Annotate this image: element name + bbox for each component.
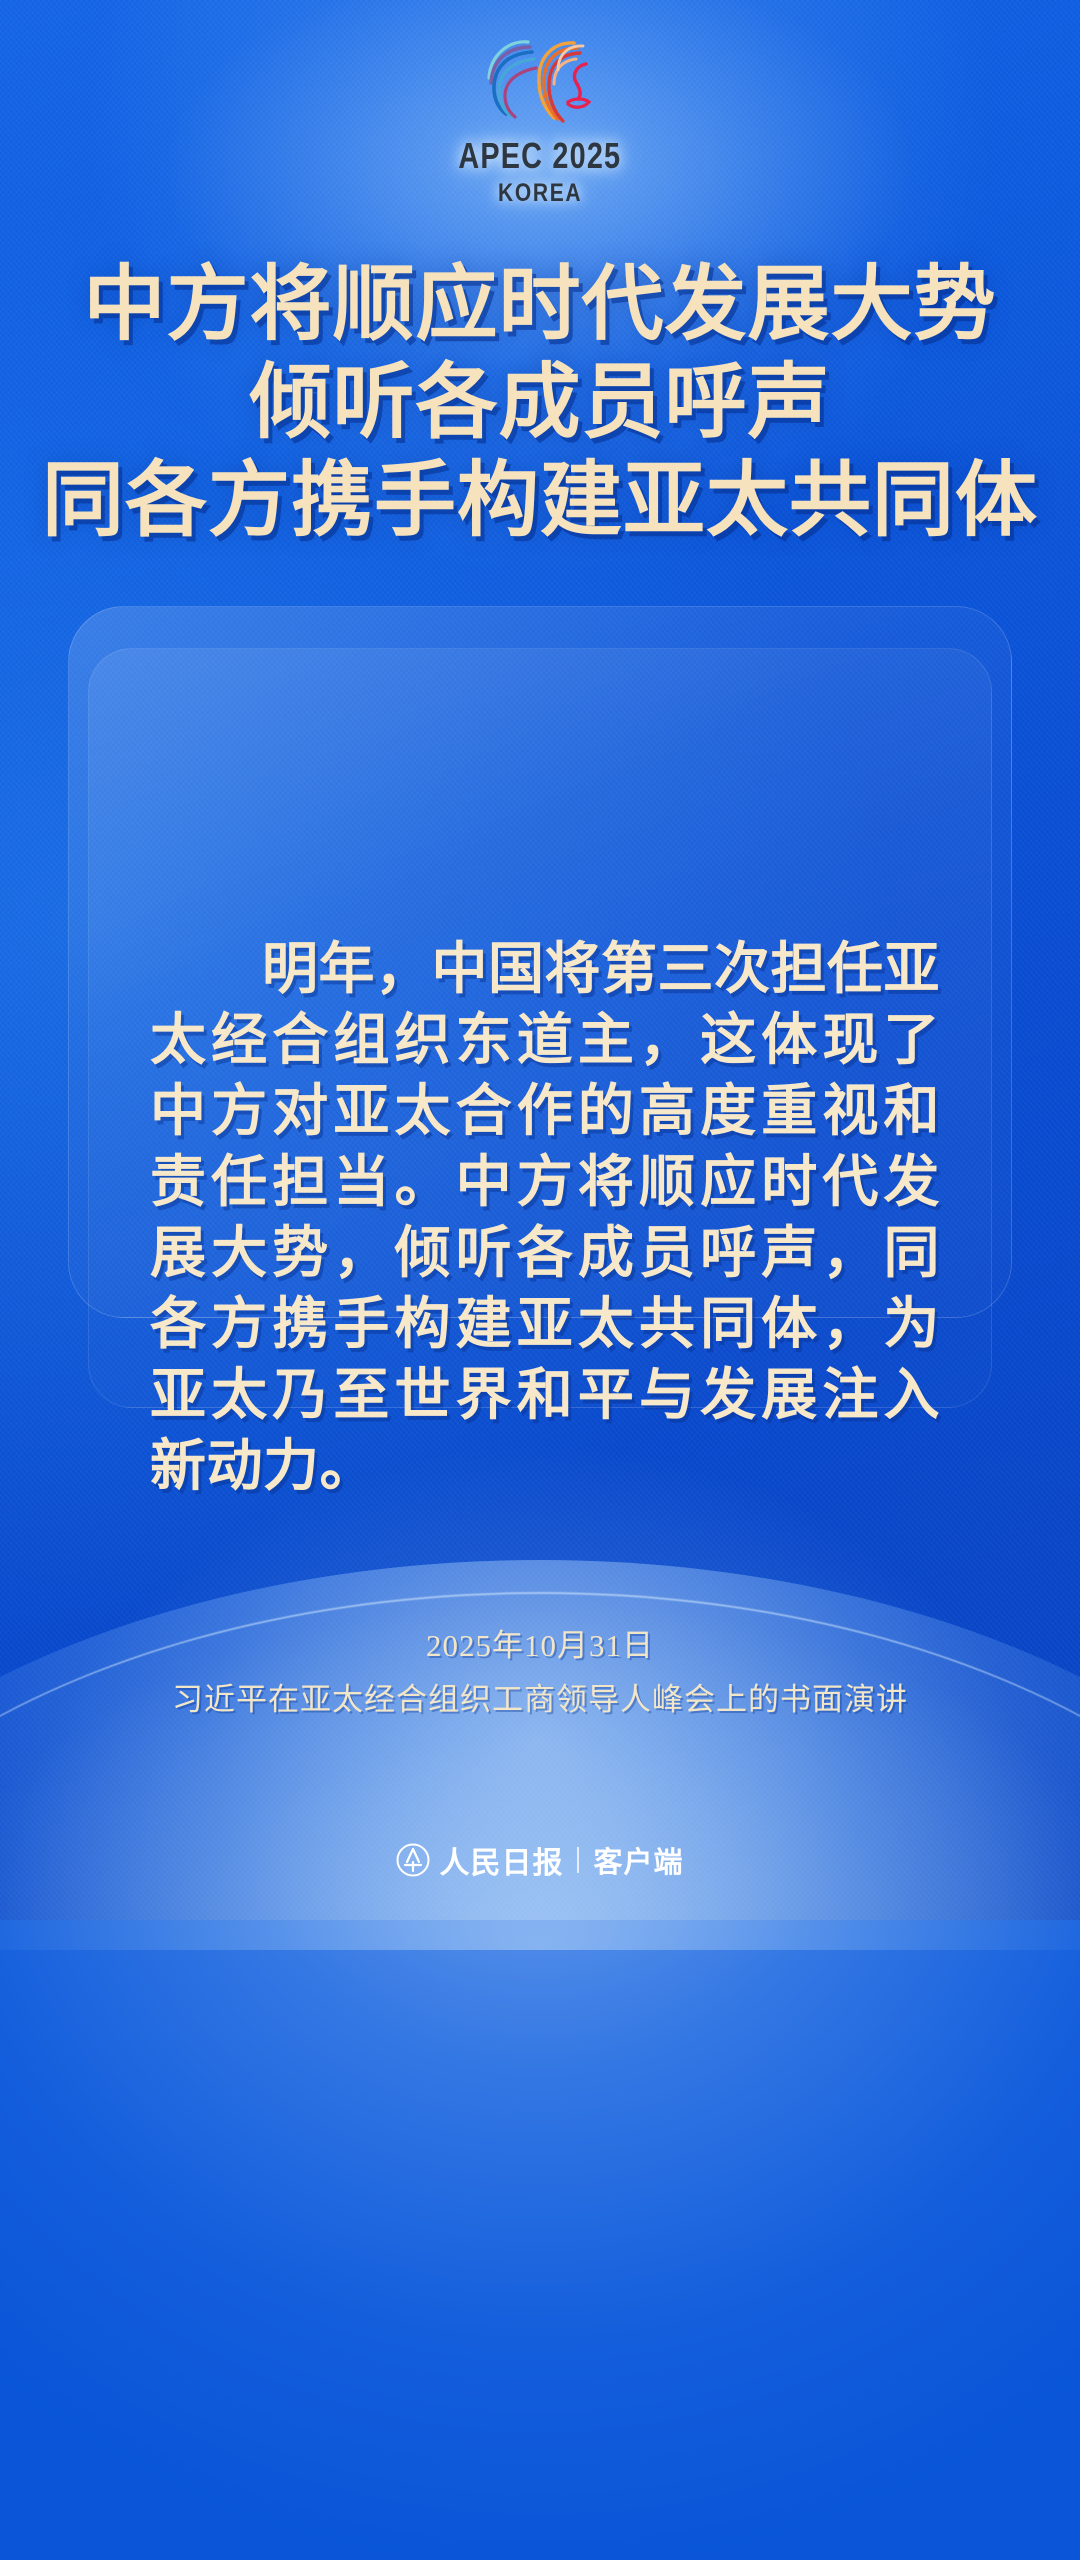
brand-name: 人民日报 <box>439 1838 563 1882</box>
apec-korea-emblem-icon <box>450 26 630 131</box>
headline-line-2: 倾听各成员呼声 <box>0 354 1080 452</box>
headline-line-1: 中方将顺应时代发展大势 <box>0 256 1080 354</box>
attribution-date: 2025年10月31日 <box>0 1623 1080 1670</box>
attribution: 2025年10月31日 习近平在亚太经合组织工商领导人峰会上的书面演讲 <box>0 1623 1080 1723</box>
logo-title: APEC 2025 <box>459 135 622 177</box>
apec-logo: APEC 2025 KOREA <box>0 26 1080 208</box>
quote-body-text: 明年，中国将第三次担任亚太经合组织东道主，这体现了中方对亚太合作的高度重视和责任… <box>150 935 940 1503</box>
peoples-daily-icon <box>396 1843 430 1877</box>
brand-divider <box>577 1847 579 1873</box>
logo-subtitle: KOREA <box>498 179 582 208</box>
brand-subtitle: 客户端 <box>593 1839 683 1881</box>
poster-page: APEC 2025 KOREA 中方将顺应时代发展大势 倾听各成员呼声 同各方携… <box>0 0 1080 1920</box>
headline-line-3: 同各方携手构建亚太共同体 <box>0 452 1080 550</box>
peoples-daily-logo: 人民日报 <box>396 1838 563 1882</box>
headline: 中方将顺应时代发展大势 倾听各成员呼声 同各方携手构建亚太共同体 <box>0 256 1080 550</box>
brand-bar: 人民日报 客户端 <box>0 1838 1080 1882</box>
attribution-source: 习近平在亚太经合组织工商领导人峰会上的书面演讲 <box>0 1677 1080 1724</box>
